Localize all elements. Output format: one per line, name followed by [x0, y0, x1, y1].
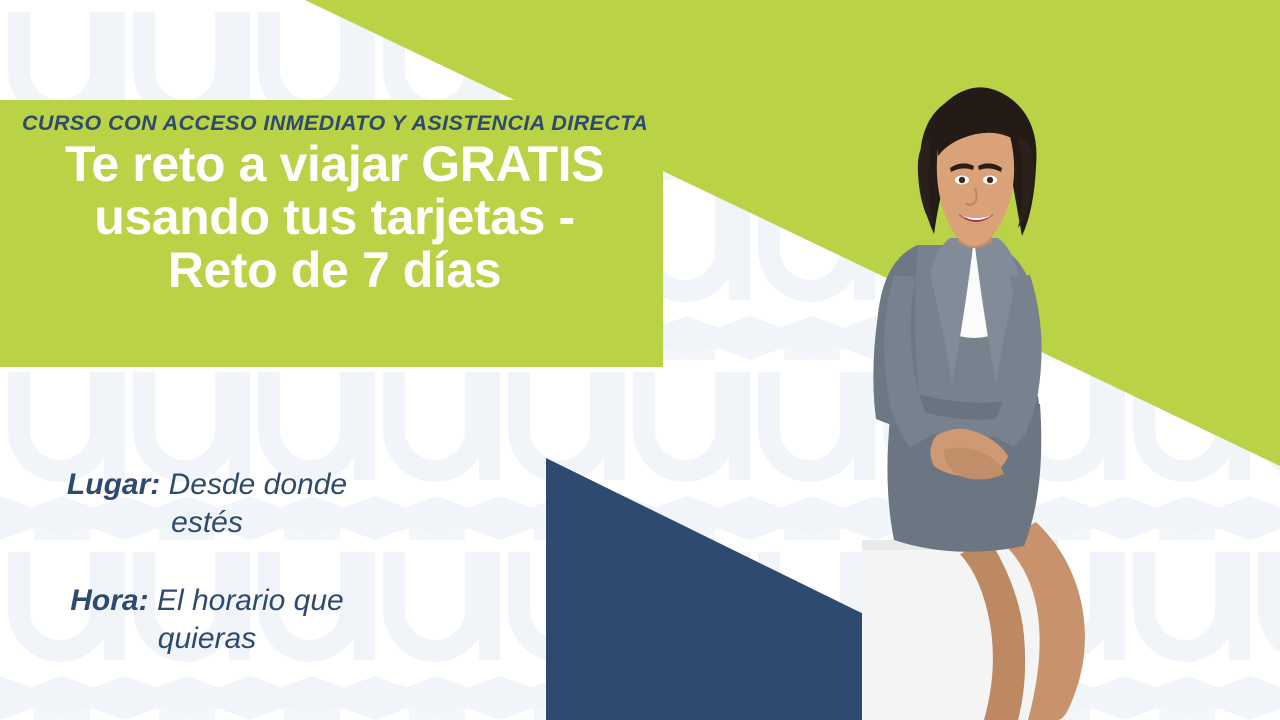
promo-banner: CURSO CON ACCESO INMEDIATO Y ASISTENCIA …	[0, 0, 1280, 720]
detail-row: Lugar: Desde donde estés	[42, 466, 372, 542]
presenter-photo	[840, 70, 1240, 720]
detail-value-hora: El horario que quieras	[157, 584, 344, 655]
kicker-text: CURSO CON ACCESO INMEDIATO Y ASISTENCIA …	[22, 112, 648, 136]
detail-row: Hora: El horario que quieras	[42, 582, 372, 658]
headline-text: Te reto a viajar GRATIS usando tus tarje…	[20, 138, 643, 297]
detail-label-lugar: Lugar:	[67, 468, 160, 501]
detail-label-hora: Hora:	[70, 584, 148, 617]
details-block: Lugar: Desde donde estés Hora: El horari…	[42, 466, 372, 658]
headline-block: CURSO CON ACCESO INMEDIATO Y ASISTENCIA …	[0, 100, 663, 367]
detail-value-lugar: Desde donde estés	[169, 468, 347, 539]
